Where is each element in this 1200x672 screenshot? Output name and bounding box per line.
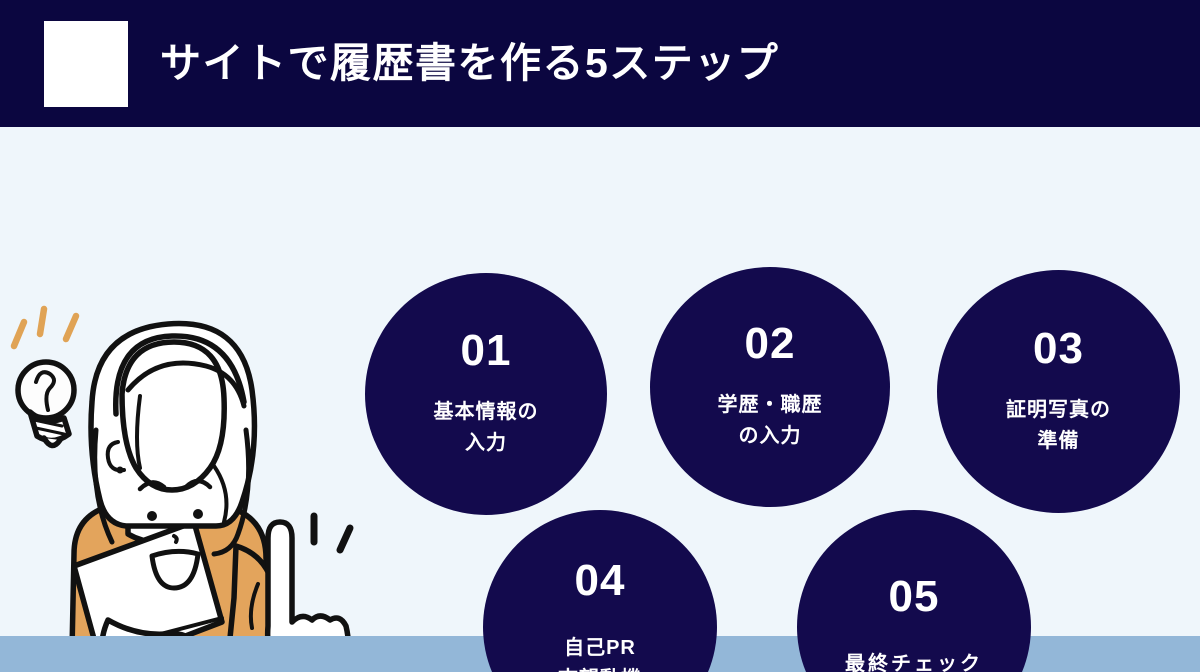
step-label: 証明写真の 準備: [1006, 395, 1111, 457]
step-label-line2: の入力: [718, 421, 823, 452]
step-circle-03[interactable]: 03 証明写真の 準備: [937, 270, 1180, 513]
step-label-line2: 入力: [434, 428, 539, 459]
page-title: サイトで履歴書を作る5ステップ: [160, 43, 779, 84]
step-number: 05: [889, 575, 940, 619]
step-circle-02[interactable]: 02 学歴・職歴 の入力: [650, 267, 890, 507]
content-stage: 01 基本情報の 入力 02 学歴・職歴 の入力 03 証明写真の 準備 04 …: [0, 127, 1200, 672]
step-label-line1: 最終チェック: [845, 649, 983, 672]
step-number: 03: [1033, 327, 1084, 371]
step-label-line2: 準備: [1006, 426, 1111, 457]
step-circle-05[interactable]: 05 最終チェック: [797, 510, 1031, 672]
step-circle-01[interactable]: 01 基本情報の 入力: [365, 273, 607, 515]
infographic-canvas: サイトで履歴書を作る5ステップ: [0, 0, 1200, 672]
step-number: 01: [461, 329, 512, 373]
page-header: サイトで履歴書を作る5ステップ: [0, 0, 1200, 127]
step-label-line1: 証明写真の: [1006, 395, 1111, 426]
step-label: 自己PR 志望動機: [558, 633, 642, 672]
step-label-line2: 志望動機: [558, 664, 642, 672]
step-label-line1: 学歴・職歴: [718, 390, 823, 421]
step-label-line1: 基本情報の: [434, 397, 539, 428]
illustration-pointing-woman: [0, 254, 360, 672]
header-accent-square: [44, 21, 128, 107]
step-circle-04[interactable]: 04 自己PR 志望動機: [483, 510, 717, 672]
step-number: 02: [745, 322, 796, 366]
step-label: 最終チェック: [845, 649, 983, 672]
step-label: 基本情報の 入力: [434, 397, 539, 459]
step-label-line1: 自己PR: [558, 633, 642, 664]
step-number: 04: [575, 559, 626, 603]
step-label: 学歴・職歴 の入力: [718, 390, 823, 452]
